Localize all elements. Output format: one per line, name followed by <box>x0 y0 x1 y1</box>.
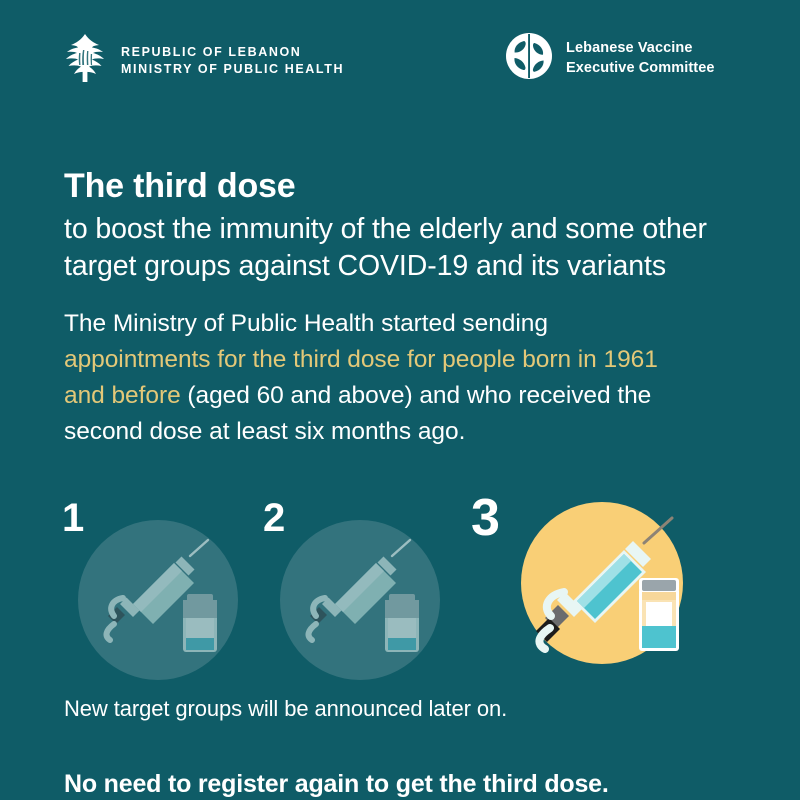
body-section: The Ministry of Public Health started se… <box>64 306 779 450</box>
moph-logo: REPUBLIC OF LEBANON MINISTRY OF PUBLIC H… <box>62 32 344 89</box>
body-text-highlight-2: and before <box>64 382 181 409</box>
headline-section: The third dose to boost the immunity of … <box>64 166 764 286</box>
body-text-highlight-1: appointments for the third dose for peop… <box>64 346 658 373</box>
moph-logo-line2: MINISTRY OF PUBLIC HEALTH <box>121 61 344 78</box>
cedar-tree-icon <box>62 32 108 89</box>
syringe-and-vial-icon <box>292 532 428 668</box>
body-line-4: second dose at least six months ago. <box>64 414 779 450</box>
dose-steps: 1 <box>0 480 800 680</box>
body-line-2: appointments for the third dose for peop… <box>64 342 779 378</box>
page-title: The third dose <box>64 166 764 206</box>
poster-footer: New target groups will be announced late… <box>64 696 764 799</box>
footer-note: New target groups will be announced late… <box>64 696 764 722</box>
leaf-circle-icon <box>505 32 553 85</box>
infographic-poster: REPUBLIC OF LEBANON MINISTRY OF PUBLIC H… <box>0 0 800 800</box>
body-line-1: The Ministry of Public Health started se… <box>64 306 779 342</box>
lvec-logo-line1: Lebanese Vaccine <box>566 39 715 58</box>
moph-logo-line1: REPUBLIC OF LEBANON <box>121 44 344 61</box>
body-text-plain-2: (aged 60 and above) and who received the <box>181 382 652 409</box>
body-text-plain-1: The Ministry of Public Health started se… <box>64 310 548 337</box>
moph-logo-text: REPUBLIC OF LEBANON MINISTRY OF PUBLIC H… <box>121 44 344 77</box>
headline-subtitle: to boost the immunity of the elderly and… <box>64 211 764 286</box>
dose-step-1-number: 1 <box>62 498 83 538</box>
lvec-logo-line2: Executive Committee <box>566 59 715 78</box>
syringe-and-vial-icon <box>520 502 690 670</box>
body-text-plain-3: second dose at least six months ago. <box>64 418 465 445</box>
dose-step-2-number: 2 <box>263 498 284 538</box>
lvec-logo-text: Lebanese Vaccine Executive Committee <box>566 39 715 77</box>
headline-subtitle-line2: target groups against COVID-19 and its v… <box>64 248 764 285</box>
poster-header: REPUBLIC OF LEBANON MINISTRY OF PUBLIC H… <box>0 28 800 108</box>
footer-emphasis: No need to register again to get the thi… <box>64 770 764 799</box>
syringe-and-vial-icon <box>90 532 226 668</box>
body-line-3: and before (aged 60 and above) and who r… <box>64 378 779 414</box>
lvec-logo: Lebanese Vaccine Executive Committee <box>505 32 715 85</box>
dose-step-3-number: 3 <box>471 492 499 544</box>
headline-subtitle-line1: to boost the immunity of the elderly and… <box>64 211 764 248</box>
